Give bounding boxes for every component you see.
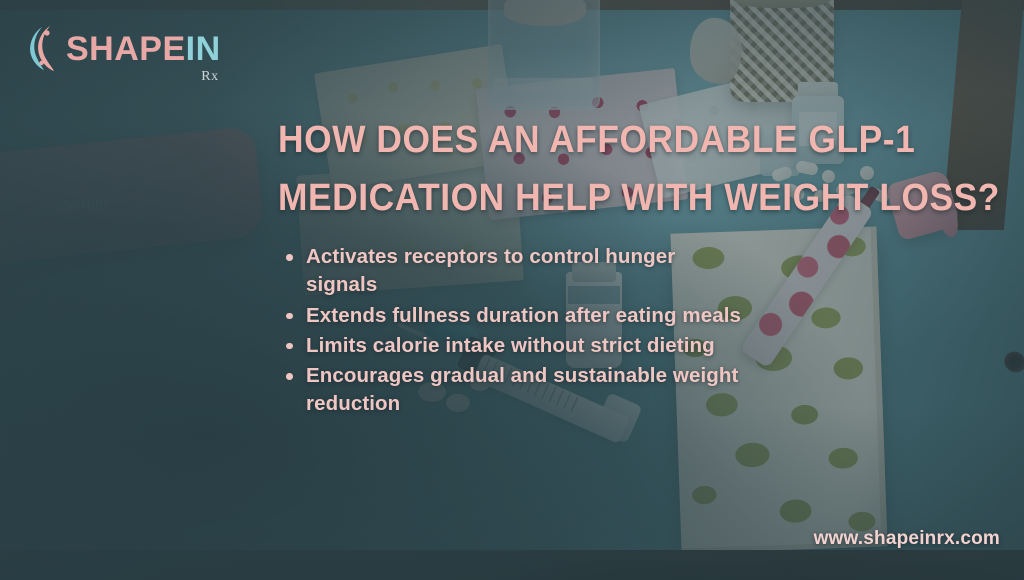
- page-title: HOW DOES AN AFFORDABLE GLP-1 MEDICATION …: [278, 112, 762, 228]
- list-item: Limits calorie intake without strict die…: [282, 332, 752, 360]
- logo-rx-suffix: Rx: [201, 69, 218, 85]
- title-line-2: MEDICATION HELP WITH WEIGHT LOSS?: [278, 170, 762, 228]
- swirl-icon: [26, 24, 68, 74]
- website-url[interactable]: www.shapeinrx.com: [814, 528, 1000, 550]
- title-line-1: HOW DOES AN AFFORDABLE GLP-1: [278, 112, 762, 170]
- logo-word-in: IN: [186, 30, 221, 68]
- content-layer: SHAPEIN Rx HOW DOES AN AFFORDABLE GLP-1 …: [0, 0, 1024, 580]
- brand-logo[interactable]: SHAPEIN Rx: [26, 24, 221, 85]
- infographic-canvas: Cystone: [0, 0, 1024, 580]
- list-item: Encourages gradual and sustainable weigh…: [282, 362, 752, 419]
- list-item: Activates receptors to control hunger si…: [282, 243, 752, 300]
- logo-word-shape: SHAPE: [66, 30, 186, 68]
- list-item: Extends fullness duration after eating m…: [282, 302, 752, 330]
- benefits-list: Activates receptors to control hunger si…: [282, 243, 752, 421]
